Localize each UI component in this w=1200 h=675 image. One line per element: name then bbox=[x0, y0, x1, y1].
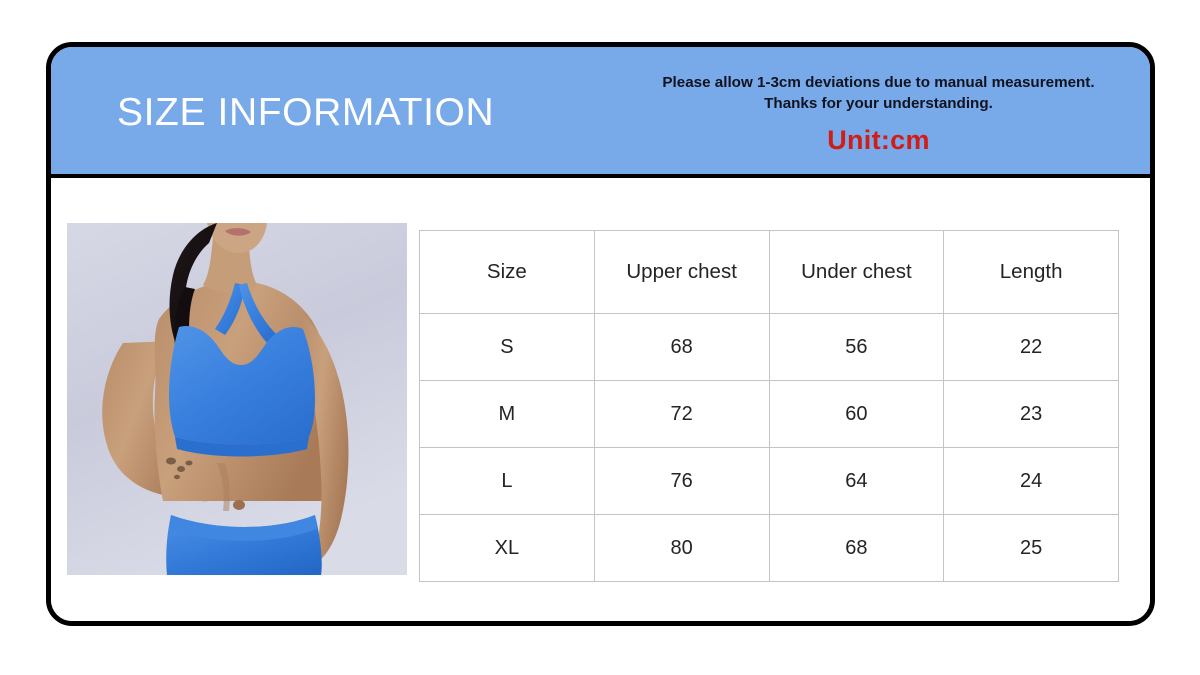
cell-upper-chest: 72 bbox=[594, 381, 769, 448]
cell-length: 25 bbox=[944, 515, 1119, 582]
table-row: XL 80 68 25 bbox=[420, 515, 1119, 582]
cell-size: L bbox=[420, 448, 595, 515]
cell-upper-chest: 80 bbox=[594, 515, 769, 582]
header-band: SIZE INFORMATION Please allow 1-3cm devi… bbox=[51, 47, 1150, 178]
column-header-upper-chest: Upper chest bbox=[594, 231, 769, 314]
cell-upper-chest: 76 bbox=[594, 448, 769, 515]
column-header-size: Size bbox=[420, 231, 595, 314]
card-body: Size Upper chest Under chest Length S 68… bbox=[51, 178, 1150, 626]
cell-upper-chest: 68 bbox=[594, 314, 769, 381]
cell-length: 22 bbox=[944, 314, 1119, 381]
cell-size: M bbox=[420, 381, 595, 448]
measurement-note-line-2: Thanks for your understanding. bbox=[611, 94, 1146, 115]
cell-under-chest: 68 bbox=[769, 515, 944, 582]
column-header-under-chest: Under chest bbox=[769, 231, 944, 314]
cell-under-chest: 56 bbox=[769, 314, 944, 381]
page-title: SIZE INFORMATION bbox=[117, 93, 494, 132]
navel bbox=[233, 500, 245, 510]
product-photo-illustration bbox=[67, 223, 407, 575]
measurement-note-line-1: Please allow 1-3cm deviations due to man… bbox=[611, 73, 1146, 94]
table-row: L 76 64 24 bbox=[420, 448, 1119, 515]
cell-length: 24 bbox=[944, 448, 1119, 515]
table-row: M 72 60 23 bbox=[420, 381, 1119, 448]
product-photo bbox=[67, 223, 407, 575]
cell-size: S bbox=[420, 314, 595, 381]
column-header-length: Length bbox=[944, 231, 1119, 314]
cell-size: XL bbox=[420, 515, 595, 582]
table-header-row: Size Upper chest Under chest Length bbox=[420, 231, 1119, 314]
size-table-container: Size Upper chest Under chest Length S 68… bbox=[419, 230, 1119, 576]
size-table: Size Upper chest Under chest Length S 68… bbox=[419, 230, 1119, 582]
table-row: S 68 56 22 bbox=[420, 314, 1119, 381]
size-information-card: SIZE INFORMATION Please allow 1-3cm devi… bbox=[46, 42, 1155, 626]
unit-label: Unit:cm bbox=[611, 127, 1146, 154]
cell-under-chest: 64 bbox=[769, 448, 944, 515]
measurement-note: Please allow 1-3cm deviations due to man… bbox=[611, 73, 1146, 114]
cell-length: 23 bbox=[944, 381, 1119, 448]
cell-under-chest: 60 bbox=[769, 381, 944, 448]
